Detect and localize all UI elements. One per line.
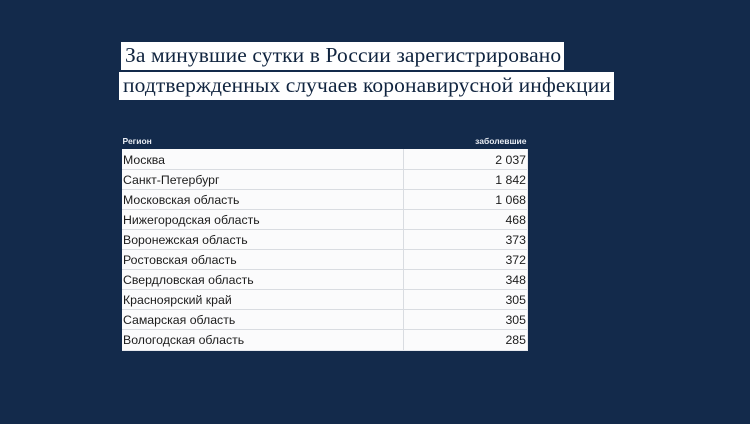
- cell-region: Нижегородская область: [123, 210, 404, 230]
- title-line-1: За минувшие сутки в России зарегистриров…: [121, 42, 564, 70]
- cell-region: Московская область: [123, 190, 404, 210]
- table-row: Санкт-Петербург 1 842: [123, 170, 527, 190]
- table-header: Регион заболевшие: [123, 134, 527, 150]
- cell-count: 348: [404, 270, 527, 290]
- cell-region: Красноярский край: [123, 290, 404, 310]
- cell-region: Ростовская область: [123, 250, 404, 270]
- cell-count: 372: [404, 250, 527, 270]
- table-row: Свердловская область 348: [123, 270, 527, 290]
- column-header-count: заболевшие: [404, 134, 527, 150]
- table-row: Вологодская область 285: [123, 330, 527, 350]
- cell-region: Воронежская область: [123, 230, 404, 250]
- cell-count: 305: [404, 310, 527, 330]
- table-row: Воронежская область 373: [123, 230, 527, 250]
- cell-count: 2 037: [404, 150, 527, 170]
- table-row: Самарская область 305: [123, 310, 527, 330]
- cell-count: 285: [404, 330, 527, 350]
- regions-table-wrapper: Регион заболевшие Москва 2 037 Санкт-Пет…: [122, 134, 526, 350]
- cell-region: Самарская область: [123, 310, 404, 330]
- slide-root: За минувшие сутки в России зарегистриров…: [0, 0, 750, 424]
- cell-region: Санкт-Петербург: [123, 170, 404, 190]
- table-body: Москва 2 037 Санкт-Петербург 1 842 Моско…: [123, 150, 527, 350]
- cell-region: Москва: [123, 150, 404, 170]
- cell-count: 373: [404, 230, 527, 250]
- cell-count: 468: [404, 210, 527, 230]
- slide-title: За минувшие сутки в России зарегистриров…: [0, 42, 750, 100]
- table-row: Московская область 1 068: [123, 190, 527, 210]
- table-row: Москва 2 037: [123, 150, 527, 170]
- cell-region: Вологодская область: [123, 330, 404, 350]
- cell-count: 305: [404, 290, 527, 310]
- regions-table: Регион заболевшие Москва 2 037 Санкт-Пет…: [122, 134, 527, 350]
- table-row: Нижегородская область 468: [123, 210, 527, 230]
- cell-region: Свердловская область: [123, 270, 404, 290]
- table-header-row: Регион заболевшие: [123, 134, 527, 150]
- table-row: Ростовская область 372: [123, 250, 527, 270]
- cell-count: 1 068: [404, 190, 527, 210]
- table-row: Красноярский край 305: [123, 290, 527, 310]
- title-line-2: подтвержденных случаев коронавирусной ин…: [119, 72, 614, 100]
- column-header-region: Регион: [123, 134, 404, 150]
- cell-count: 1 842: [404, 170, 527, 190]
